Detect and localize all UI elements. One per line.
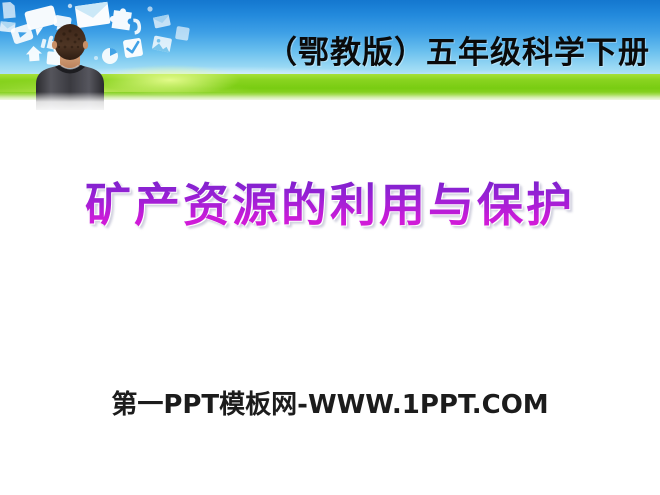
checkbox-check-icon [123, 38, 144, 59]
document-icon [2, 2, 15, 19]
image-icon [152, 35, 172, 52]
document-icon [175, 26, 190, 41]
banner-bottom-fade [0, 92, 660, 112]
ppt-title-slide: （鄂教版）五年级科学下册 矿产资源的利用与保护 第一PPT模板网-WWW.1PP… [0, 0, 660, 495]
phone-icon [133, 18, 142, 35]
envelope-icon [153, 14, 171, 28]
page-title: 矿产资源的利用与保护 [85, 176, 575, 234]
bubble-dot-icon [68, 4, 72, 8]
bubble-dot-icon [147, 6, 152, 11]
footer-watermark: 第一PPT模板网-WWW.1PPT.COM [0, 389, 660, 421]
subject-header-text: （鄂教版）五年级科学下册 [266, 33, 618, 73]
main-title-container: 矿产资源的利用与保护 [0, 176, 660, 234]
